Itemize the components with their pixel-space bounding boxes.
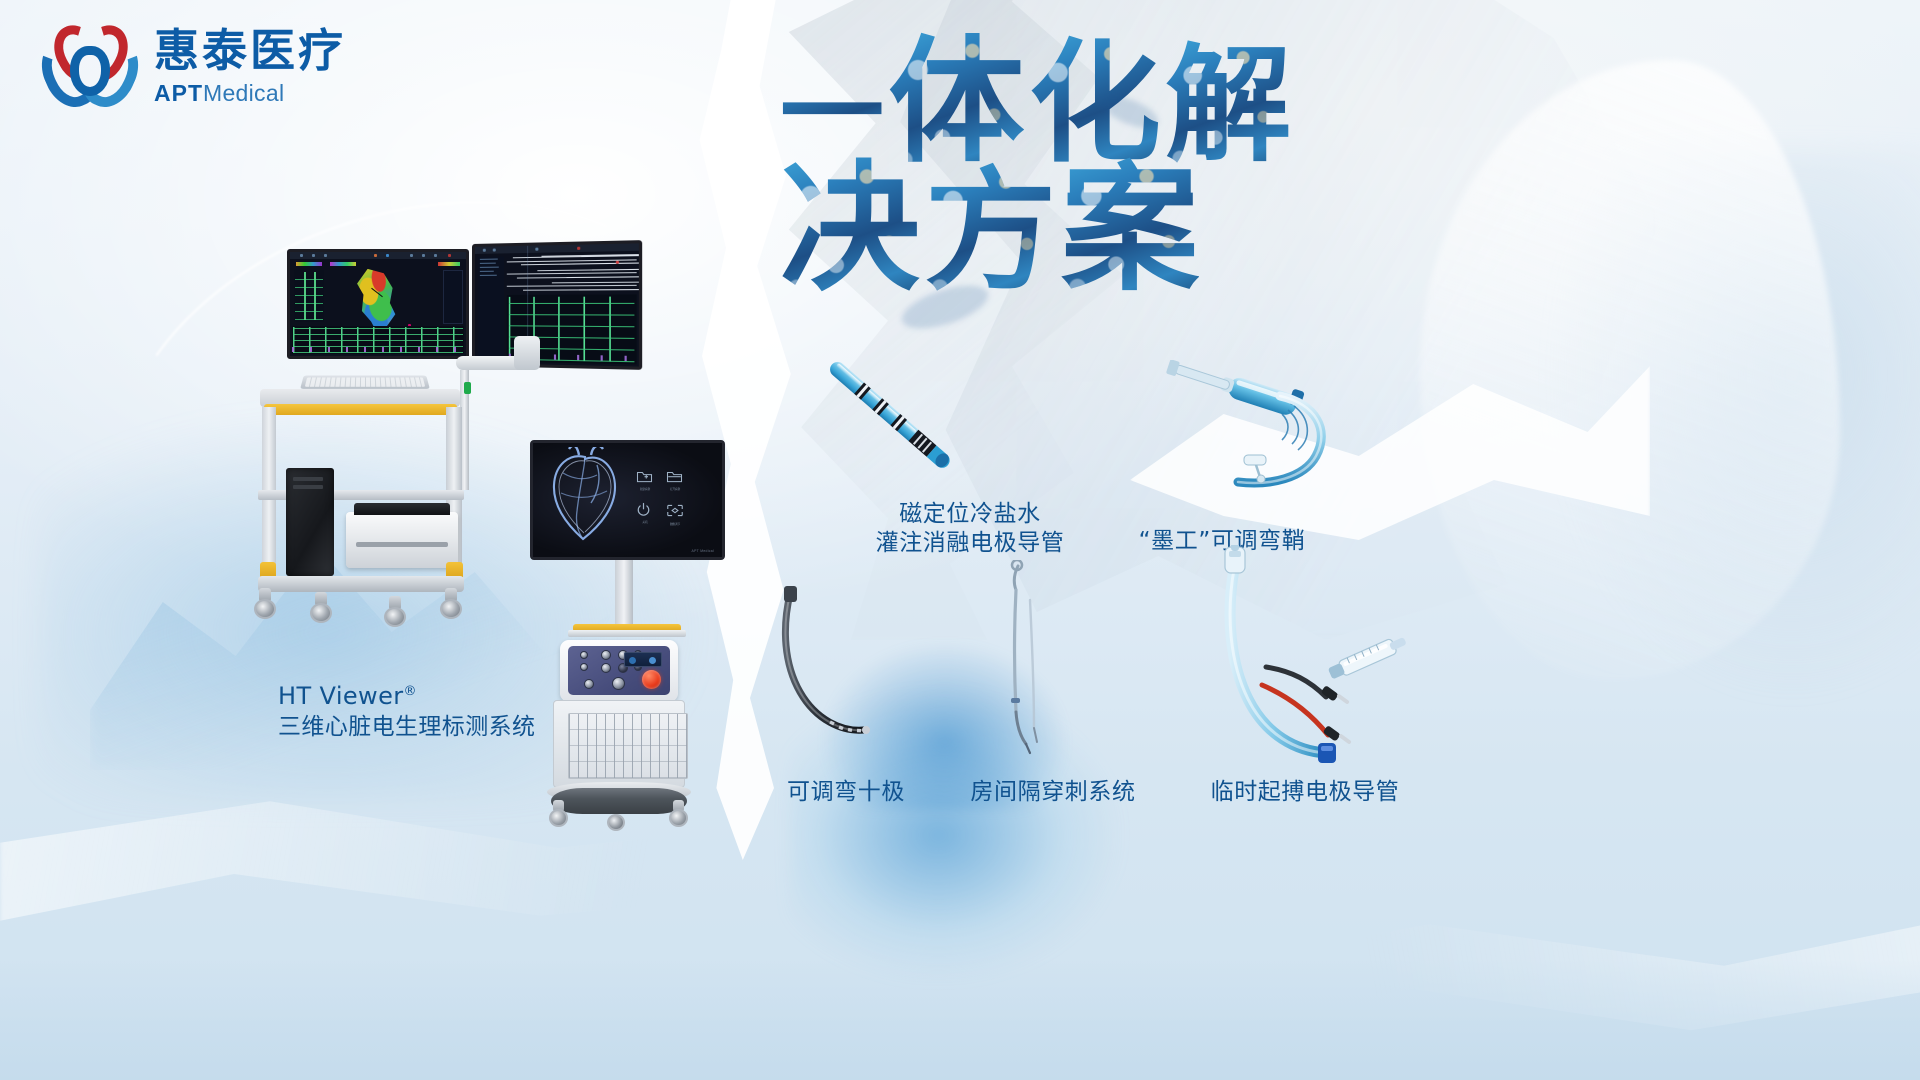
monitor-brand-text: APT Medical — [692, 549, 714, 553]
heart-monitor-icon-row: 新建病例 打开病例 关机 图像调节 — [636, 469, 712, 526]
transseptal-needle-graphic — [980, 560, 1070, 760]
heart-monitor-neck — [615, 560, 633, 626]
new-folder-icon[interactable]: 新建病例 — [636, 469, 654, 491]
cart-caster — [254, 588, 276, 618]
printer — [346, 512, 458, 568]
product-decapolar-catheter — [760, 580, 890, 770]
label-irrigated-ablation-catheter: 磁定位冷盐水 灌注消融电极导管 — [860, 500, 1080, 559]
cart-basket — [568, 713, 688, 779]
printer-lid — [354, 503, 450, 515]
cart-caster — [310, 592, 332, 622]
registered-mark: ® — [404, 684, 417, 699]
steerable-sheath-graphic — [1130, 360, 1350, 510]
cart-yellow-trim — [264, 404, 457, 415]
power-label: 关机 — [642, 520, 647, 524]
ht-viewer-name-text: HT Viewer — [278, 682, 404, 710]
heart-monitor-tray — [568, 630, 686, 637]
ht-viewer-name-en: HT Viewer® — [278, 680, 535, 712]
label-line-1: 房间隔穿刺系统 — [963, 778, 1143, 807]
label-line-2: 灌注消融电极导管 — [860, 529, 1080, 558]
generator-display — [624, 652, 662, 667]
cart-base — [258, 576, 464, 592]
pacing-lead-graphic — [1200, 545, 1420, 775]
generator-cart-caster — [549, 800, 569, 828]
apt-medical-heart-logo — [42, 18, 138, 114]
headline-char-7: 案 — [1061, 147, 1199, 310]
ht-viewer-name-cn: 三维心脏电生理标测系统 — [278, 712, 535, 743]
expand-label: 图像调节 — [670, 522, 680, 526]
product-temporary-pacing-catheter — [1200, 545, 1420, 775]
ecg-recording-screen — [475, 243, 639, 366]
label-temporary-pacing-catheter: 临时起搏电极导管 — [1200, 778, 1410, 807]
pc-tower — [286, 468, 334, 576]
power-icon[interactable]: 关机 — [636, 502, 654, 524]
heart-display-monitor: 新建病例 打开病例 关机 图像调节 — [530, 440, 725, 560]
printer-slot — [356, 542, 448, 547]
product-transseptal-puncture-system — [980, 560, 1070, 760]
generator-port[interactable] — [601, 663, 611, 673]
heart-wireframe-graphic — [539, 447, 635, 555]
generator-port-main[interactable] — [612, 677, 625, 690]
generator-cart — [545, 700, 693, 850]
folder-label: 打开病例 — [670, 487, 680, 491]
generator-port[interactable] — [580, 663, 588, 671]
label-line-1: 磁定位冷盐水 — [860, 500, 1080, 529]
3d-mapping-monitor — [287, 249, 469, 359]
label-line-1: 可调弯十极 — [766, 778, 926, 807]
product-steerable-sheath — [1130, 360, 1350, 510]
generator-port[interactable] — [584, 679, 594, 689]
monitor-arm-head — [514, 336, 540, 370]
generator-port[interactable] — [601, 650, 611, 660]
decapolar-catheter-graphic — [760, 580, 890, 770]
heart-display-screen: 新建病例 打开病例 关机 图像调节 — [533, 443, 722, 557]
headline-char-6: 方 — [924, 154, 1056, 309]
product-irrigated-ablation-catheter — [805, 350, 985, 490]
headline-char-5: 决 — [780, 147, 920, 311]
label-line-1: 临时起搏电极导管 — [1200, 778, 1410, 807]
brand-logo: 惠泰医疗 APTMedical — [42, 18, 346, 114]
keyboard[interactable] — [300, 375, 430, 388]
logo-text-en: APTMedical — [154, 82, 346, 105]
headline-calligraphy: 一 体 化 解 决 方 案 — [780, 40, 1420, 340]
background-ribbon-left — [0, 770, 900, 1030]
generator-cart-caster — [669, 800, 689, 828]
logo-text-en-bold: APT — [154, 80, 203, 106]
label-decapolar-catheter: 可调弯十极 — [766, 778, 926, 807]
logo-text-en-light: Medical — [203, 80, 284, 106]
status-led — [464, 382, 471, 394]
generator-port[interactable] — [580, 651, 588, 659]
cart-caster — [384, 596, 406, 626]
new-folder-label: 新建病例 — [640, 487, 650, 491]
background-white-swoop-b — [1420, 60, 1840, 680]
background-ribbon-right — [1150, 860, 1920, 1080]
background-wash-right — [1540, 150, 1920, 710]
3d-mapping-screen — [290, 252, 466, 356]
ecg-recording-monitor — [472, 240, 642, 370]
background-bottom-fade — [0, 960, 1920, 1080]
emergency-stop-button[interactable] — [642, 670, 661, 689]
folder-icon[interactable]: 打开病例 — [666, 469, 684, 491]
rf-ablation-generator — [560, 640, 678, 702]
label-transseptal-puncture-system: 房间隔穿刺系统 — [963, 778, 1143, 807]
label-ht-viewer: HT Viewer® 三维心脏电生理标测系统 — [278, 680, 535, 743]
ablation-catheter-graphic — [805, 350, 985, 490]
cart-caster — [440, 588, 462, 618]
poster-canvas: 惠泰医疗 APTMedical 一 体 化 解 决 方 案 — [0, 0, 1920, 1080]
generator-faceplate — [568, 646, 670, 695]
generator-cart-caster — [607, 808, 627, 836]
ep-workstation-cart — [250, 240, 550, 660]
expand-icon[interactable]: 图像调节 — [666, 504, 684, 526]
logo-text-cn: 惠泰医疗 — [154, 28, 346, 73]
